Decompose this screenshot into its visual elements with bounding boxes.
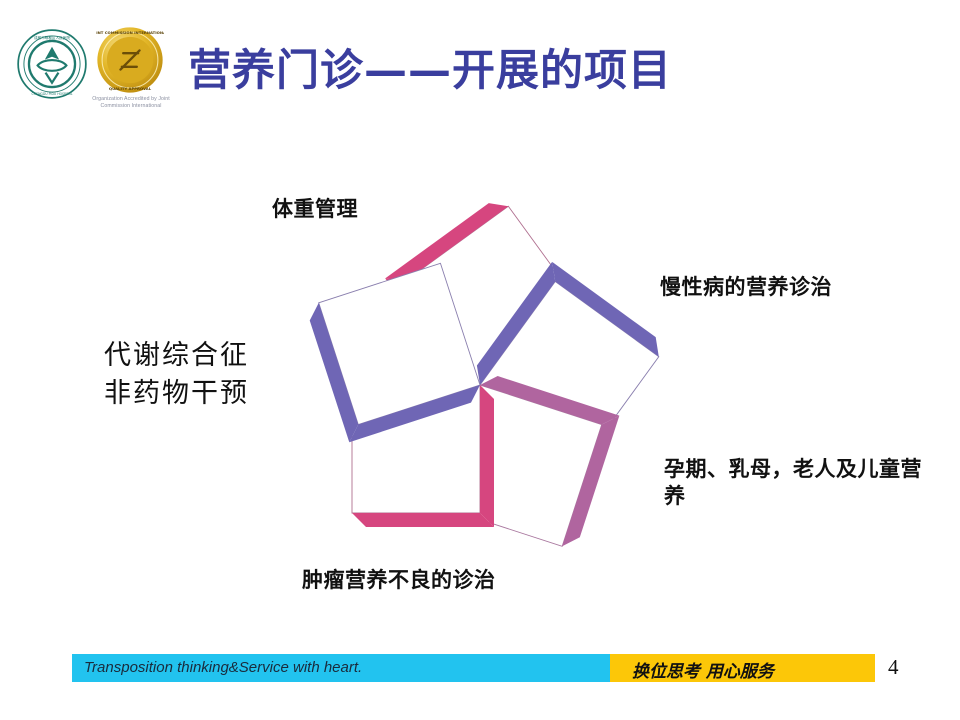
label-metabolic-line-1: 代谢综合征 [104,337,249,375]
page-title: 营养门诊——开展的项目 [188,36,672,98]
pinwheel-diagram: 1 2 3 4 5 [180,175,780,595]
svg-text:CHENGDU PIDU HOSPITAL: CHENGDU PIDU HOSPITAL [32,92,73,96]
footer-english-slogan: Transposition thinking&Service with hear… [84,659,362,676]
label-tumor-malnutrition-treatment: 肿瘤营养不良的诊治 [302,567,496,594]
svg-text:JOINT COMMISSION INTERNATIONAL: JOINT COMMISSION INTERNATIONAL [96,30,164,35]
footer-english-banner: Transposition thinking&Service with hear… [72,654,610,682]
label-metabolic-line-2: 非药物干预 [104,375,249,413]
label-metabolic-syndrome: 代谢综合征 非药物干预 [104,337,249,413]
jci-logo-caption: Organization Accredited by Joint Commiss… [88,96,174,109]
slide-header: 成都市郫都区人民医院 CHENGDU PIDU HOSPITAL [0,0,960,135]
slide-canvas: 成都市郫都区人民医院 CHENGDU PIDU HOSPITAL [0,0,960,720]
svg-text:成都市郫都区人民医院: 成都市郫都区人民医院 [34,35,70,40]
label-weight-management: 体重管理 [272,196,358,223]
footer-chinese-banner: 换位思考 用心服务 [610,654,875,682]
label-maternal-child-elderly-nutrition: 孕期、乳母，老人及儿童营养 [664,456,932,510]
page-number: 4 [888,655,899,680]
footer-chinese-slogan: 换位思考 用心服务 [632,657,774,682]
svg-text:QUALITY APPROVAL: QUALITY APPROVAL [109,86,152,91]
jci-gold-seal-logo: JOINT COMMISSION INTERNATIONAL QUALITY A… [96,26,164,94]
label-chronic-disease-nutrition: 慢性病的营养诊治 [660,274,832,301]
hospital-seal-logo: 成都市郫都区人民医院 CHENGDU PIDU HOSPITAL [16,28,88,100]
